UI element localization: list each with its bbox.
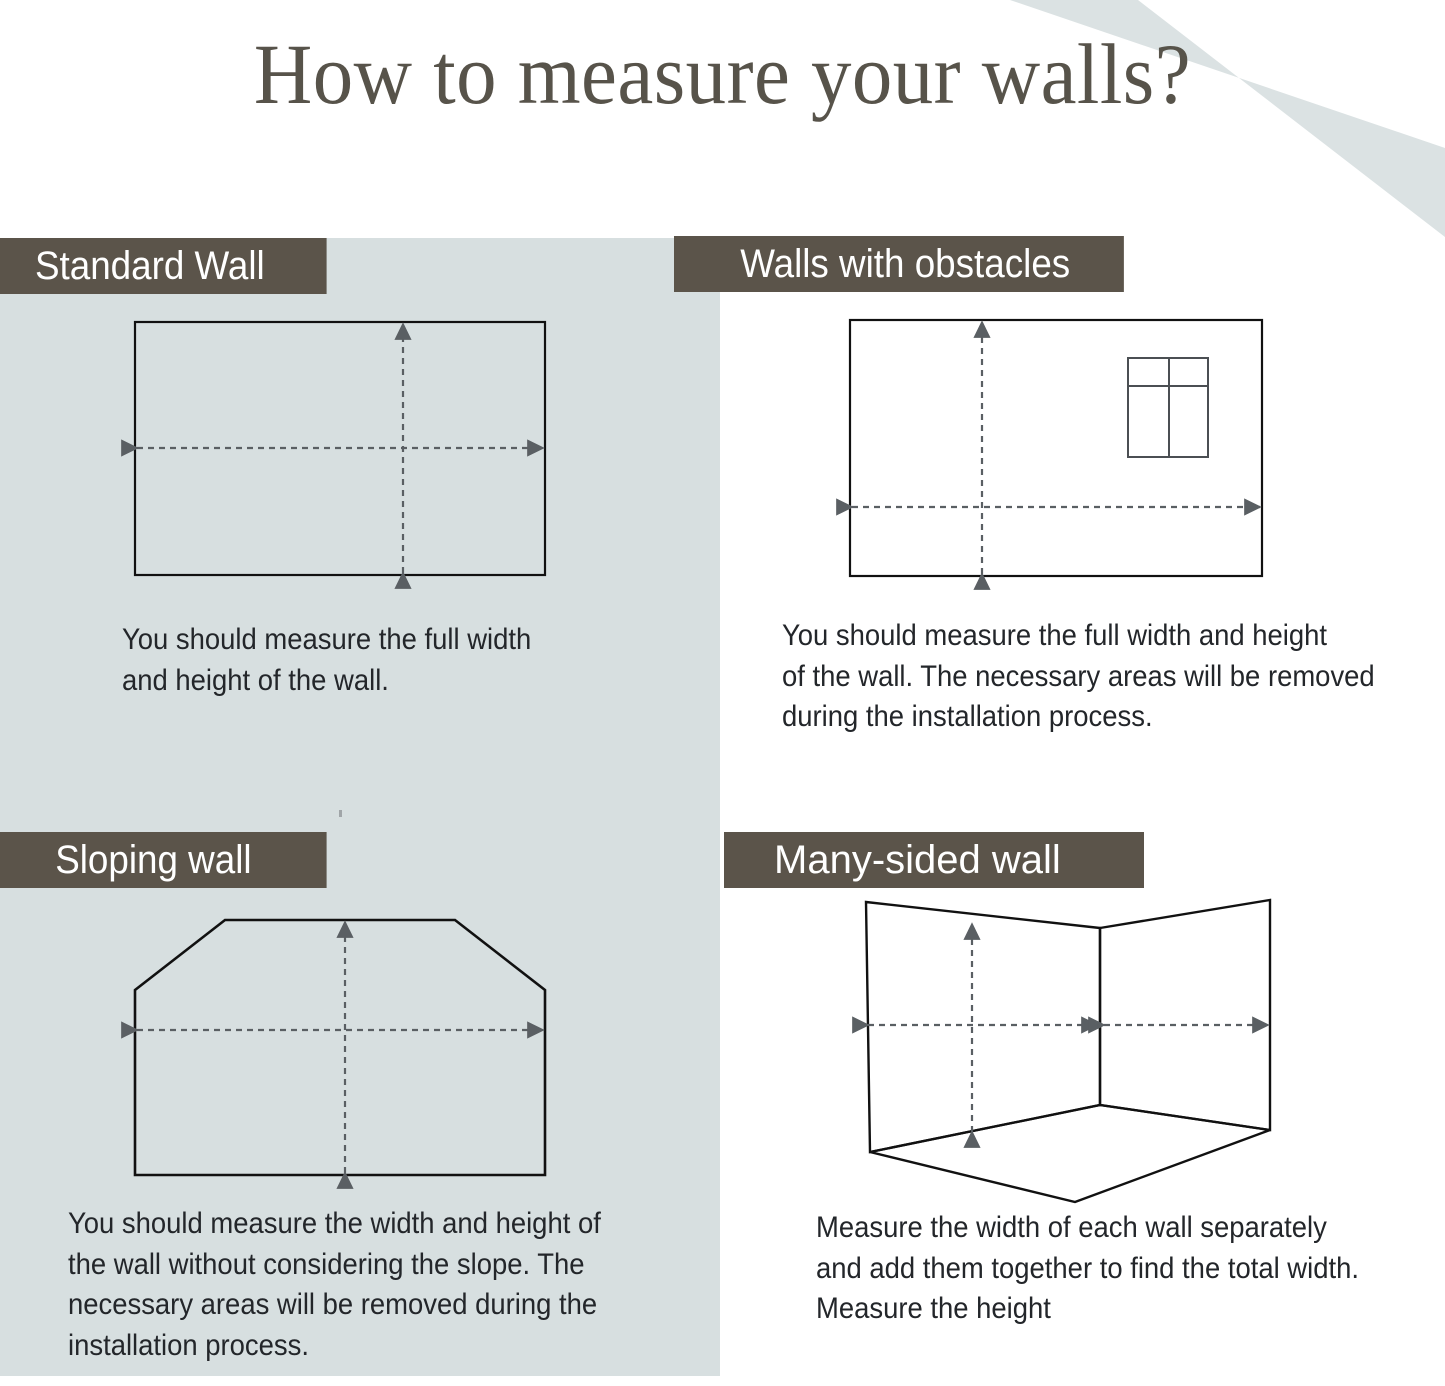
caption-standard-wall: You should measure the full width and he… xyxy=(122,620,699,701)
caption-sloping-wall: You should measure the width and height … xyxy=(68,1204,663,1367)
diagram-sloping-wall xyxy=(60,890,660,1200)
wall-outline xyxy=(135,920,545,1175)
section-heading-many-sided-wall: Many-sided wall xyxy=(724,832,1144,888)
caption-walls-with-obstacles: You should measure the full width and he… xyxy=(782,616,1396,738)
floor-surface xyxy=(870,1105,1270,1202)
diagram-walls-with-obstacles xyxy=(780,300,1400,600)
infographic-page: How to measure your walls? Standard Wall… xyxy=(0,0,1445,1386)
window-obstacle-icon xyxy=(1128,358,1208,457)
section-heading-walls-with-obstacles: Walls with obstacles xyxy=(674,236,1124,292)
caption-many-sided-wall: Measure the width of each wall separatel… xyxy=(816,1208,1411,1330)
artifact-speck xyxy=(339,810,342,817)
section-heading-sloping-wall: Sloping wall xyxy=(0,832,327,888)
section-heading-standard-wall: Standard Wall xyxy=(0,238,327,294)
page-title: How to measure your walls? xyxy=(43,28,1401,121)
diagram-standard-wall xyxy=(60,300,660,600)
right-wall-surface xyxy=(1100,900,1270,1130)
left-wall-surface xyxy=(866,902,1100,1152)
diagram-many-sided-wall xyxy=(780,885,1400,1215)
